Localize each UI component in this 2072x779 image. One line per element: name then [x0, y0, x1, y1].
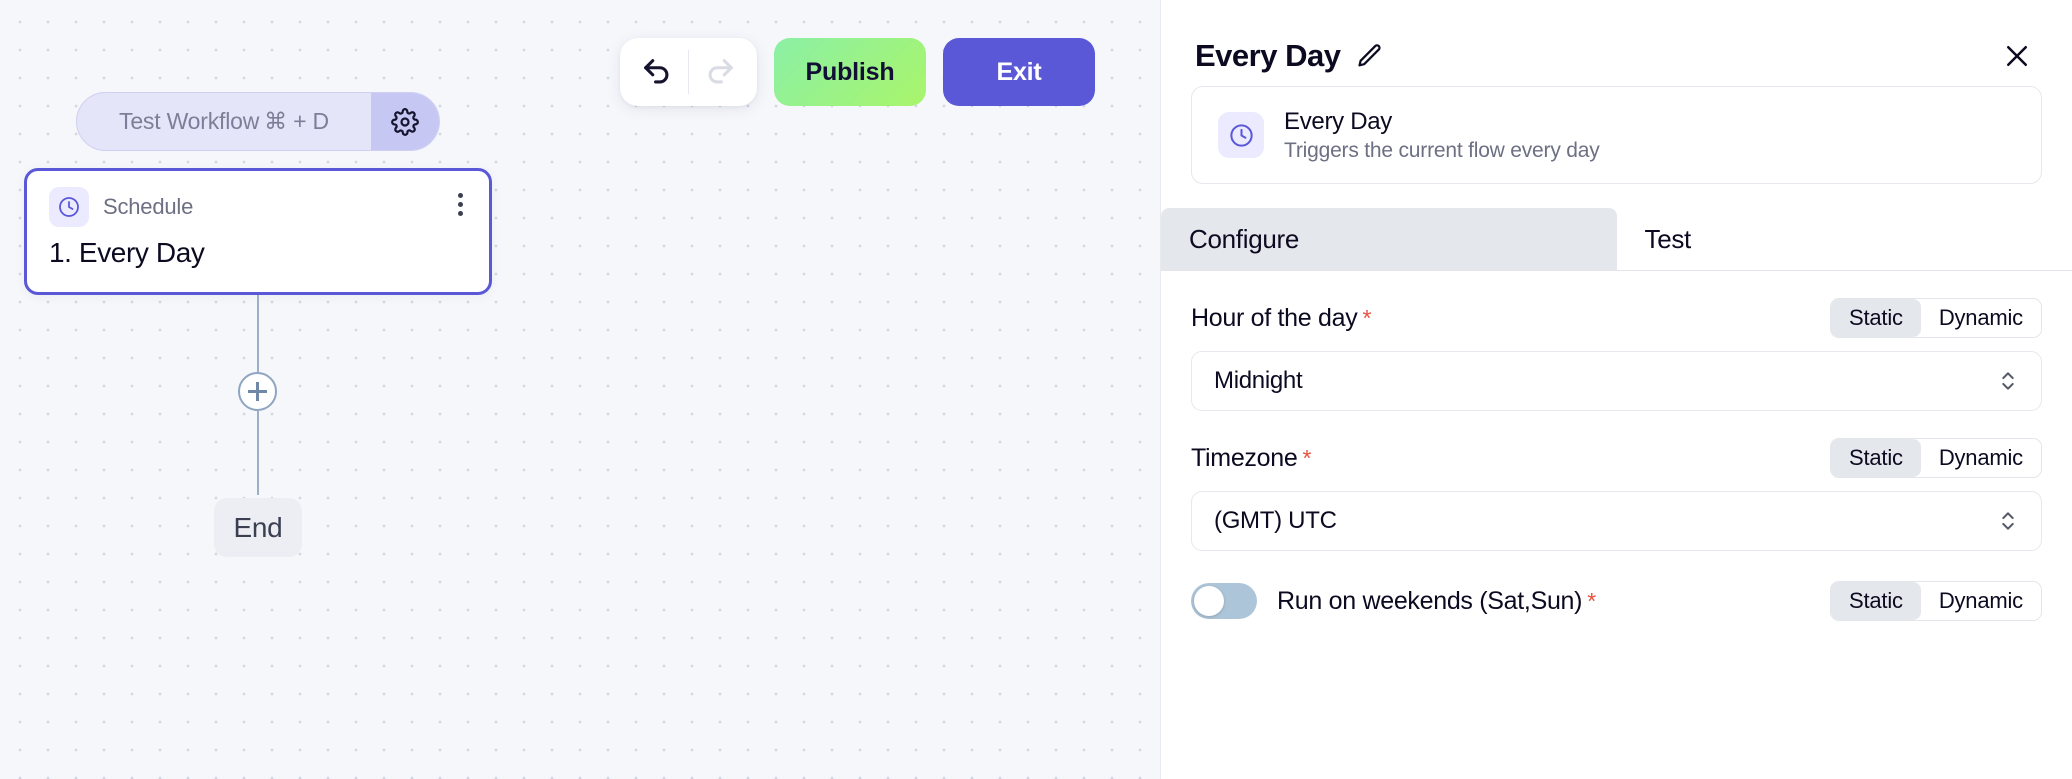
- select-value-hour-of-the-day: Midnight: [1214, 367, 1302, 395]
- required-asterisk: *: [1302, 447, 1311, 470]
- toggle-knob: [1194, 586, 1224, 616]
- pencil-icon: [1356, 42, 1384, 70]
- undo-arrow-icon: [640, 55, 674, 89]
- mode-static-run-on-weekends[interactable]: Static: [1831, 582, 1921, 620]
- trigger-icon-container: [1218, 112, 1264, 158]
- edge-plus-to-end: [257, 411, 259, 495]
- mode-toggle-hour-of-the-day: Static Dynamic: [1830, 298, 2042, 338]
- gear-icon: [391, 108, 419, 136]
- tab-test[interactable]: Test: [1617, 208, 2072, 270]
- configure-form: Hour of the day * Static Dynamic Midnigh…: [1161, 298, 2072, 621]
- label-run-on-weekends: Run on weekends (Sat,Sun): [1277, 587, 1582, 616]
- trigger-description: Triggers the current flow every day: [1284, 139, 1600, 163]
- redo-arrow-icon: [703, 55, 737, 89]
- mode-toggle-run-on-weekends: Static Dynamic: [1830, 581, 2042, 621]
- close-panel-button[interactable]: [1996, 35, 2038, 77]
- end-node[interactable]: End: [214, 498, 302, 557]
- node-icon-container: [49, 187, 89, 227]
- more-vertical-icon: [458, 193, 463, 198]
- workflow-node-every-day[interactable]: Schedule 1. Every Day: [24, 168, 492, 295]
- mode-static-timezone[interactable]: Static: [1831, 439, 1921, 477]
- mode-dynamic-timezone[interactable]: Dynamic: [1921, 439, 2041, 477]
- toggle-run-on-weekends[interactable]: [1191, 583, 1257, 619]
- trigger-name: Every Day: [1284, 108, 1600, 136]
- more-vertical-icon: [458, 211, 463, 216]
- test-workflow-label: Test Workflow: [119, 108, 259, 135]
- trigger-summary-card: Every Day Triggers the current flow ever…: [1191, 86, 2042, 184]
- required-asterisk: *: [1362, 307, 1371, 330]
- select-hour-of-the-day[interactable]: Midnight: [1191, 351, 2042, 411]
- undo-button[interactable]: [626, 41, 688, 103]
- redo-button[interactable]: [689, 41, 751, 103]
- test-workflow-shortcut: ⌘ + D: [264, 108, 329, 135]
- field-run-on-weekends: Run on weekends (Sat,Sun) * Static Dynam…: [1191, 581, 2042, 621]
- mode-static-hour-of-the-day[interactable]: Static: [1831, 299, 1921, 337]
- step-settings-panel: Every Day Every Day Triggers the current…: [1160, 0, 2072, 779]
- workflow-canvas[interactable]: Publish Exit Test Workflow ⌘ + D Schedul…: [0, 0, 1160, 779]
- test-workflow-button[interactable]: Test Workflow ⌘ + D: [76, 92, 440, 151]
- publish-button[interactable]: Publish: [774, 38, 926, 106]
- label-hour-of-the-day: Hour of the day: [1191, 304, 1357, 333]
- node-title: 1. Every Day: [27, 227, 489, 269]
- exit-button[interactable]: Exit: [943, 38, 1095, 106]
- chevron-updown-icon: [1997, 368, 2019, 394]
- select-value-timezone: (GMT) UTC: [1214, 507, 1337, 535]
- panel-tabs: Configure Test: [1161, 208, 2072, 271]
- close-icon: [2002, 41, 2032, 71]
- panel-title: Every Day: [1195, 38, 1340, 74]
- clock-icon: [1228, 122, 1255, 149]
- more-vertical-icon: [458, 202, 463, 207]
- mode-toggle-timezone: Static Dynamic: [1830, 438, 2042, 478]
- field-header-hour-of-the-day: Hour of the day * Static Dynamic: [1191, 298, 2042, 338]
- field-header-timezone: Timezone * Static Dynamic: [1191, 438, 2042, 478]
- chevron-updown-icon: [1997, 508, 2019, 534]
- test-workflow-label-group: Test Workflow ⌘ + D: [77, 93, 371, 150]
- trigger-text-group: Every Day Triggers the current flow ever…: [1284, 108, 1600, 163]
- select-timezone[interactable]: (GMT) UTC: [1191, 491, 2042, 551]
- canvas-toolbar: Publish Exit: [620, 38, 1095, 106]
- undo-redo-group: [620, 38, 757, 106]
- add-step-button[interactable]: [238, 372, 277, 411]
- required-asterisk: *: [1587, 590, 1596, 613]
- mode-dynamic-run-on-weekends[interactable]: Dynamic: [1921, 582, 2041, 620]
- node-type-label: Schedule: [103, 194, 193, 220]
- test-workflow-settings-button[interactable]: [371, 93, 439, 150]
- rename-step-button[interactable]: [1356, 42, 1384, 70]
- tab-configure[interactable]: Configure: [1161, 208, 1617, 270]
- label-timezone: Timezone: [1191, 444, 1297, 473]
- node-header-row: Schedule: [27, 171, 489, 227]
- panel-header: Every Day: [1161, 0, 2072, 86]
- edge-node-to-plus: [257, 295, 259, 372]
- clock-icon: [57, 195, 81, 219]
- mode-dynamic-hour-of-the-day[interactable]: Dynamic: [1921, 299, 2041, 337]
- node-more-menu-button[interactable]: [454, 189, 467, 220]
